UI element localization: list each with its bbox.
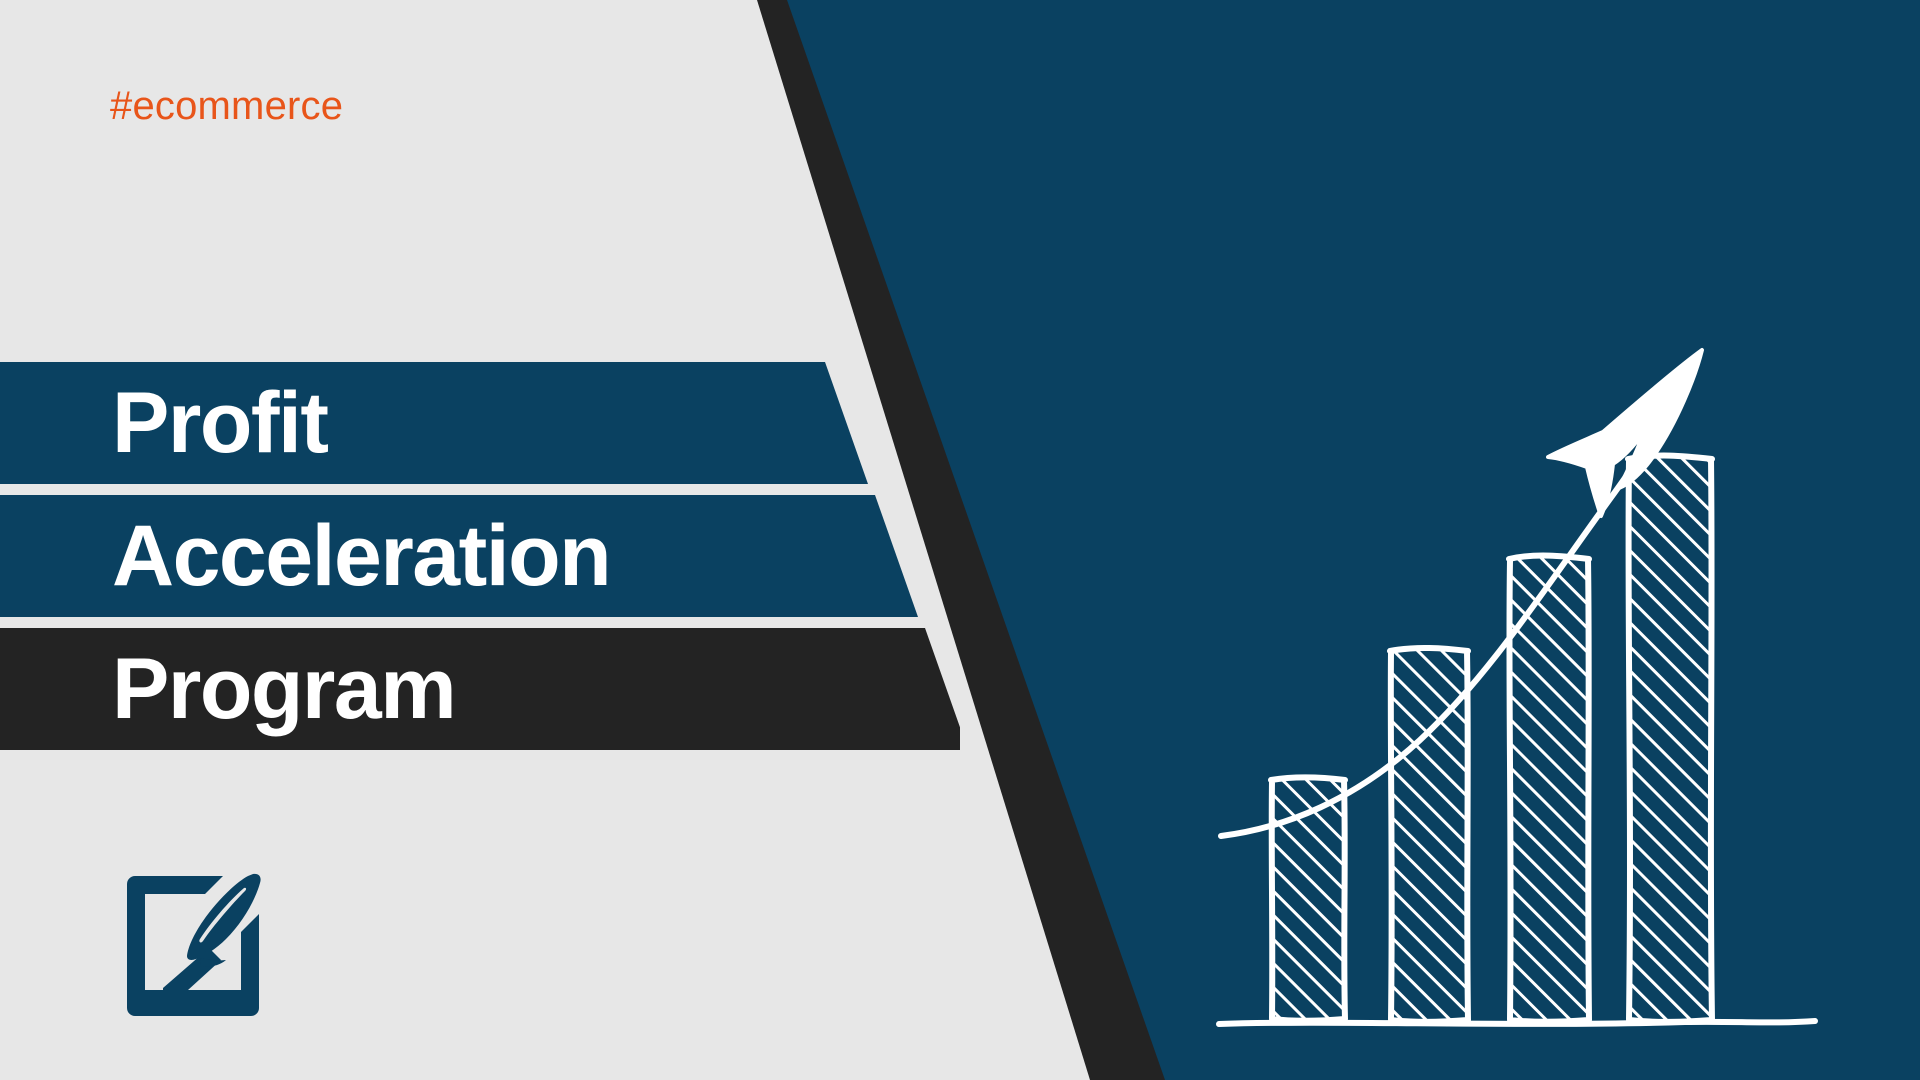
quill-in-square-logo: [113, 862, 273, 1022]
hashtag-label: #ecommerce: [110, 84, 343, 129]
title-bar-program: Program: [0, 628, 960, 750]
title-line-2: Acceleration: [0, 513, 610, 599]
chart-bar-4: [1628, 456, 1712, 1022]
chart-bar-3: [1509, 556, 1589, 1022]
title-stack: Profit Acceleration Program: [0, 362, 960, 761]
title-line-1: Profit: [0, 380, 328, 466]
title-bar-acceleration: Acceleration: [0, 495, 960, 617]
title-bar-profit: Profit: [0, 362, 960, 484]
hand-drawn-growth-bar-chart: [1215, 330, 1855, 1050]
slide-canvas: #ecommerce Profit Acceleration Program: [0, 0, 1920, 1080]
title-line-3: Program: [0, 646, 455, 732]
chart-bar-2: [1390, 648, 1468, 1022]
chart-bar-1: [1271, 777, 1345, 1021]
